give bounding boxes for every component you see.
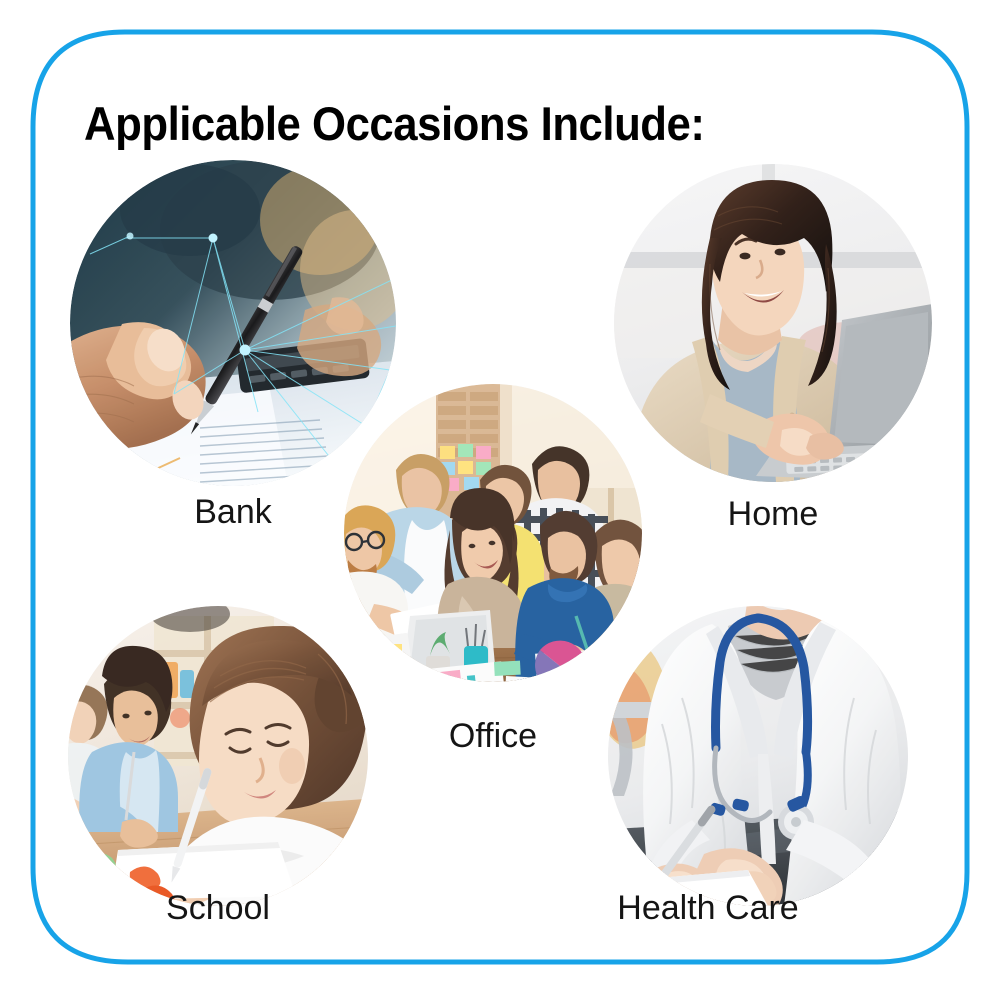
office-photo [344,384,642,682]
page-title: Applicable Occasions Include: [84,96,704,151]
occasion-label-home: Home [614,495,932,534]
poster-canvas: Applicable Occasions Include: [0,0,1000,1000]
health-care-photo [608,606,908,906]
bank-photo [70,160,396,486]
occasion-label-health-care: Health Care [508,889,908,928]
occasion-label-school: School [68,889,368,928]
home-photo [614,164,932,482]
occasion-label-office: Office [344,717,642,756]
school-photo [68,606,368,906]
